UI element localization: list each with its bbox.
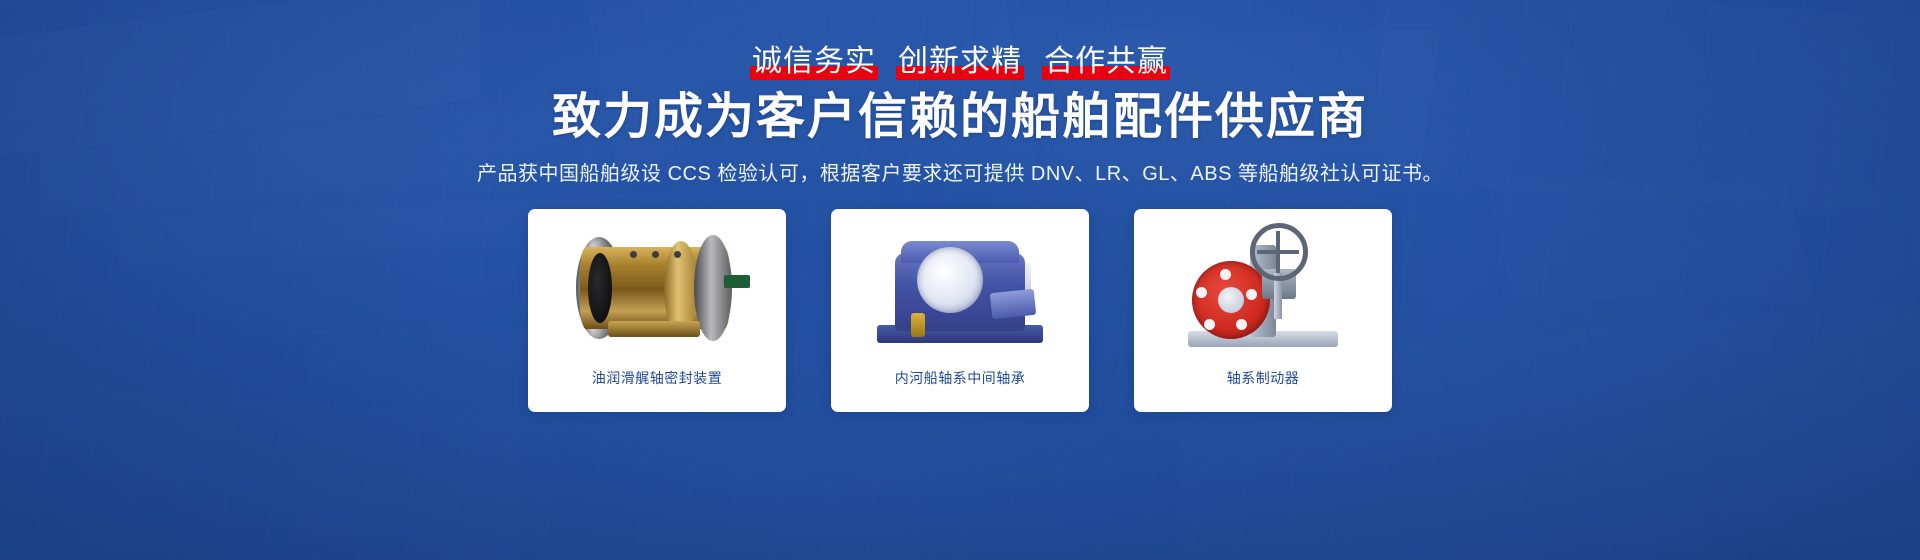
- slogan-phrase-2-text: 创新: [898, 45, 960, 78]
- product-card[interactable]: 油润滑艉轴密封装置: [528, 209, 786, 412]
- brake-disc-hole: [1246, 289, 1257, 300]
- seal-bolt: [652, 251, 659, 258]
- brake-disc-hole: [1204, 319, 1215, 330]
- brake-disc-hole: [1236, 319, 1247, 330]
- slogan-phrase-1-rest: 务实: [814, 45, 876, 78]
- product-card[interactable]: 轴系制动器: [1134, 209, 1392, 412]
- slogan-phrase-1-text: 诚信: [752, 45, 814, 78]
- bearing-side-plate: [990, 289, 1036, 319]
- product-card-caption: 内河船轴系中间轴承: [895, 368, 1026, 388]
- hero-banner: 诚信务实 创新求精 合作共赢 致力成为客户信赖的船舶配件供应商 产品获中国船舶级…: [0, 0, 1920, 560]
- oil-lubricated-stern-shaft-seal-photo: [552, 217, 762, 357]
- seal-green-tag: [724, 275, 750, 288]
- seal-bolt: [630, 251, 637, 258]
- inland-vessel-shaft-intermediate-bearing-photo: [855, 217, 1065, 357]
- slogan-phrase-3-rest: 共赢: [1106, 45, 1168, 78]
- banner-headline: 致力成为客户信赖的船舶配件供应商: [552, 91, 1368, 145]
- bearing-bore: [917, 247, 983, 313]
- product-card-list: 油润滑艉轴密封装置 内河船轴系中间轴承: [528, 209, 1392, 412]
- product-card-caption: 轴系制动器: [1227, 368, 1300, 388]
- seal-bolt: [674, 251, 681, 258]
- brake-handwheel-spoke: [1257, 250, 1299, 254]
- seal-bore: [588, 253, 612, 323]
- slogan: 诚信务实 创新求精 合作共赢: [750, 47, 1170, 77]
- brake-disc-hole: [1196, 287, 1207, 298]
- slogan-phrase-2-rest: 求精: [960, 45, 1022, 78]
- banner-content: 诚信务实 创新求精 合作共赢 致力成为客户信赖的船舶配件供应商 产品获中国船舶级…: [0, 0, 1920, 560]
- banner-subtitle: 产品获中国船舶级设 CCS 检验认可，根据客户要求还可提供 DNV、LR、GL、…: [477, 157, 1443, 186]
- seal-base-flange: [608, 321, 700, 337]
- product-card-caption: 油润滑艉轴密封装置: [592, 368, 723, 388]
- brake-disc-hole: [1220, 269, 1231, 280]
- bearing-oiler: [911, 313, 925, 337]
- slogan-phrase-1: 诚信务实: [750, 47, 878, 77]
- product-card[interactable]: 内河船轴系中间轴承: [831, 209, 1089, 412]
- slogan-phrase-2: 创新求精: [896, 47, 1024, 77]
- slogan-phrase-3-text: 合作: [1044, 45, 1106, 78]
- brake-hub: [1218, 287, 1244, 313]
- slogan-phrase-3: 合作共赢: [1042, 47, 1170, 77]
- shaft-brake-photo: [1158, 217, 1368, 357]
